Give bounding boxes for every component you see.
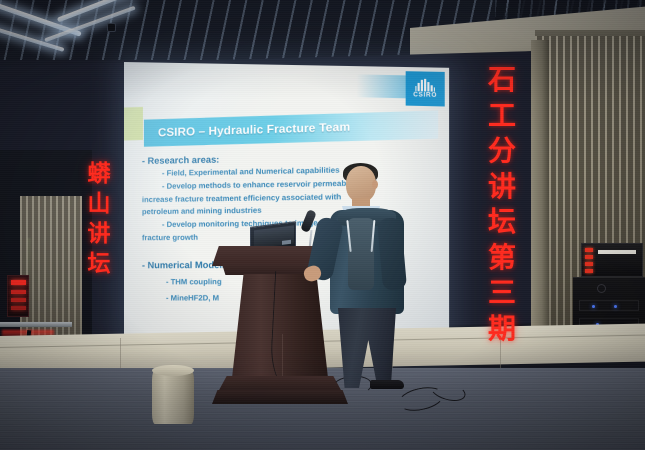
metal-rail [0, 322, 72, 327]
banner-left-char: 山 [88, 190, 111, 220]
banner-right-char: 讲 [488, 169, 516, 205]
led-indicator [11, 280, 26, 285]
csiro-logo-text: CSIRO [413, 92, 437, 99]
fixture-joint [107, 23, 116, 32]
slide-title: CSIRO – Hydraulic Fracture Team [144, 121, 350, 139]
chevron-fluorescent-fixture-icon [0, 0, 194, 66]
slide-bullet: petroleum and mining industries [142, 207, 262, 217]
presenter [318, 166, 414, 386]
banner-right-char: 坛 [488, 204, 516, 240]
led-indicator [11, 298, 26, 302]
banner-right-char: 三 [488, 275, 516, 311]
stool [152, 370, 194, 424]
banner-left-char: 蟒 [88, 160, 111, 190]
wall-pillar-right [531, 40, 549, 340]
audio-controller-unit [581, 243, 643, 277]
slide-bullet: increase fracture treatment efficiency a… [142, 193, 341, 205]
led-indicator [11, 306, 26, 310]
led-indicator [614, 305, 617, 308]
slide-title-bar: CSIRO – Hydraulic Fracture Team [144, 110, 438, 146]
banner-left-char: 讲 [88, 220, 111, 250]
rack-knob [597, 284, 606, 293]
presenter-shoe [370, 380, 404, 389]
lectern-plinth [212, 390, 348, 404]
led-indicator [11, 290, 26, 294]
lecture-hall-photo: CSIRO CSIRO – Hydraulic Fracture Team - … [0, 0, 645, 450]
laptop-logo [282, 240, 291, 245]
led-indicator [585, 255, 593, 259]
microphone-cable [269, 271, 315, 393]
csiro-bars [415, 79, 436, 92]
slide-bullet: - Research areas: [142, 154, 219, 166]
presenter-ear [372, 180, 378, 189]
banner-left-char: 坛 [88, 250, 111, 280]
slide-bullet: fracture growth [142, 234, 198, 243]
led-indicator [585, 248, 593, 252]
led-indicator [592, 305, 595, 308]
banner-right-char: 第 [488, 240, 516, 276]
rack-unit [579, 300, 639, 311]
banner-right-char: 分 [488, 133, 516, 169]
led-strip [585, 248, 593, 274]
slide-bullet: - Field, Experimental and Numerical capa… [162, 166, 340, 178]
slide-accent-block [124, 107, 143, 141]
banner-right-char: 期 [488, 311, 516, 347]
banner-left: 蟒 山 讲 坛 [79, 160, 119, 310]
csiro-logo-icon: CSIRO [406, 71, 445, 106]
presenter-jacket-front [348, 218, 374, 290]
logo-band [356, 74, 405, 98]
led-indicator [585, 262, 593, 266]
presenter-trousers [334, 308, 400, 388]
device-label [598, 250, 636, 254]
banner-right-char: 工 [488, 98, 516, 134]
banner-right: 石 工 分 讲 坛 第 三 期 [480, 62, 524, 330]
wall-joint [120, 338, 121, 370]
stool-top [152, 365, 194, 376]
led-indicator [585, 269, 593, 273]
laptop-screen [254, 225, 294, 248]
red-indicator-device [7, 275, 29, 317]
banner-right-char: 石 [488, 62, 516, 98]
